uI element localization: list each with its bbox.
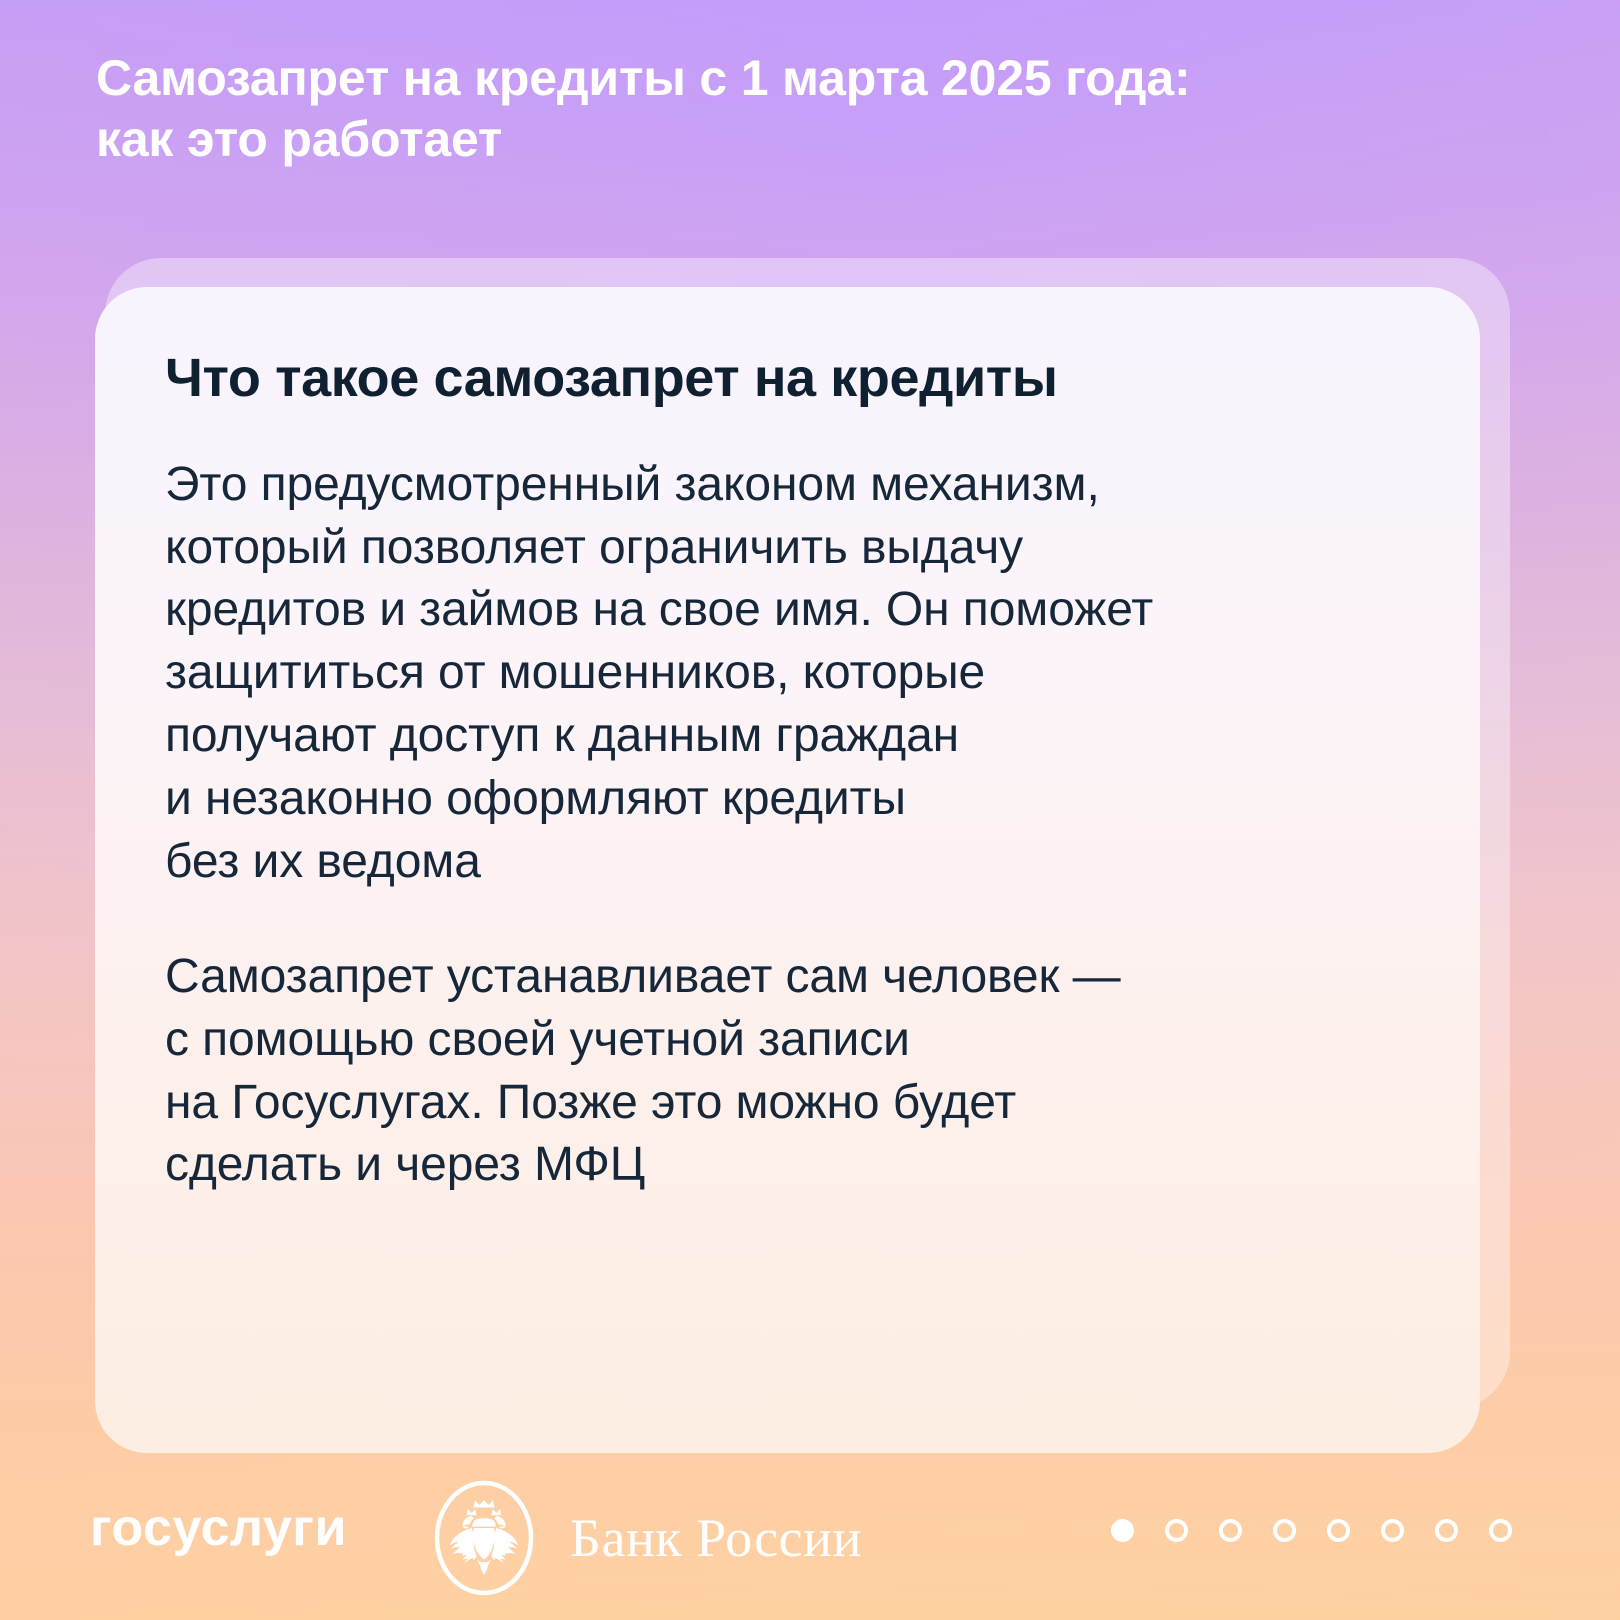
gosuslugi-logo: госуслуги [90,1502,347,1554]
content-card-stack: Что такое самозапрет на кредиты Это пред… [95,258,1510,1453]
slide-root: Самозапрет на кредиты с 1 марта 2025 год… [0,0,1620,1620]
pagination-dot[interactable] [1111,1519,1134,1542]
double-headed-eagle-icon [424,1478,544,1598]
pagination-dot[interactable] [1327,1519,1350,1542]
footer: госуслуги [0,1452,1620,1620]
pagination-dots[interactable] [1111,1519,1512,1542]
card-paragraph-2: Самозапрет устанавливает сам человек — с… [165,946,1408,1198]
content-card: Что такое самозапрет на кредиты Это пред… [95,287,1480,1453]
bank-of-russia-label: Банк России [570,1511,862,1565]
pagination-dot[interactable] [1489,1519,1512,1542]
pagination-dot[interactable] [1381,1519,1404,1542]
card-heading: Что такое самозапрет на кредиты [165,347,1408,410]
pagination-dot[interactable] [1219,1519,1242,1542]
bank-of-russia-lockup: Банк России [424,1478,862,1598]
pagination-dot[interactable] [1273,1519,1296,1542]
page-title: Самозапрет на кредиты с 1 марта 2025 год… [96,48,1396,170]
pagination-dot[interactable] [1165,1519,1188,1542]
card-paragraph-1: Это предусмотренный законом механизм, ко… [165,454,1408,894]
pagination-dot[interactable] [1435,1519,1458,1542]
